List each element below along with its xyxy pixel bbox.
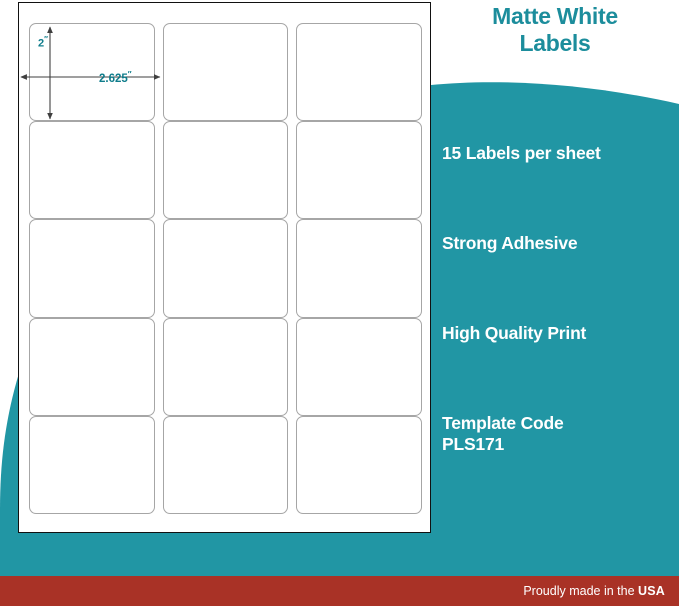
label-sheet: 2″ 2.625″ — [18, 2, 431, 533]
made-in-usa-text: Proudly made in the USA — [523, 576, 665, 606]
label-cell[interactable] — [163, 121, 289, 219]
label-cell[interactable] — [163, 318, 289, 416]
feature-template-code: Template CodePLS171 — [442, 413, 676, 456]
headline-line-1: Matte White — [431, 3, 679, 30]
label-cell[interactable] — [29, 219, 155, 317]
label-cell[interactable] — [296, 416, 422, 514]
label-cell[interactable] — [296, 121, 422, 219]
dimension-label-height: 2″ — [38, 35, 48, 50]
label-cell[interactable] — [29, 318, 155, 416]
dimension-width-value: 2.625 — [99, 73, 128, 85]
headline-line-2: Labels — [431, 30, 679, 57]
label-cell[interactable] — [163, 219, 289, 317]
dimension-width-unit: ″ — [128, 70, 132, 79]
made-in-usa-prefix: Proudly made in the — [523, 584, 638, 598]
feature-high-quality-print: High Quality Print — [442, 323, 676, 344]
label-cell[interactable] — [163, 23, 289, 121]
info-panel: Matte White Labels 15 Labels per sheet S… — [431, 0, 679, 576]
label-cell[interactable] — [296, 23, 422, 121]
label-cell[interactable] — [296, 219, 422, 317]
label-cell[interactable] — [29, 121, 155, 219]
dimension-label-width: 2.625″ — [99, 70, 132, 85]
footer-bar: Proudly made in the USA — [0, 576, 679, 606]
label-cell[interactable] — [29, 416, 155, 514]
dimension-height-unit: ″ — [44, 35, 48, 44]
feature-labels-per-sheet: 15 Labels per sheet — [442, 143, 676, 164]
feature-strong-adhesive: Strong Adhesive — [442, 233, 676, 254]
product-headline: Matte White Labels — [431, 3, 679, 57]
product-infographic: 2″ 2.625″ Matte White Labels 15 Labels p… — [0, 0, 679, 606]
made-in-usa-emphasis: USA — [638, 584, 665, 598]
label-cell[interactable] — [163, 416, 289, 514]
label-grid — [29, 23, 422, 514]
label-cell[interactable] — [296, 318, 422, 416]
